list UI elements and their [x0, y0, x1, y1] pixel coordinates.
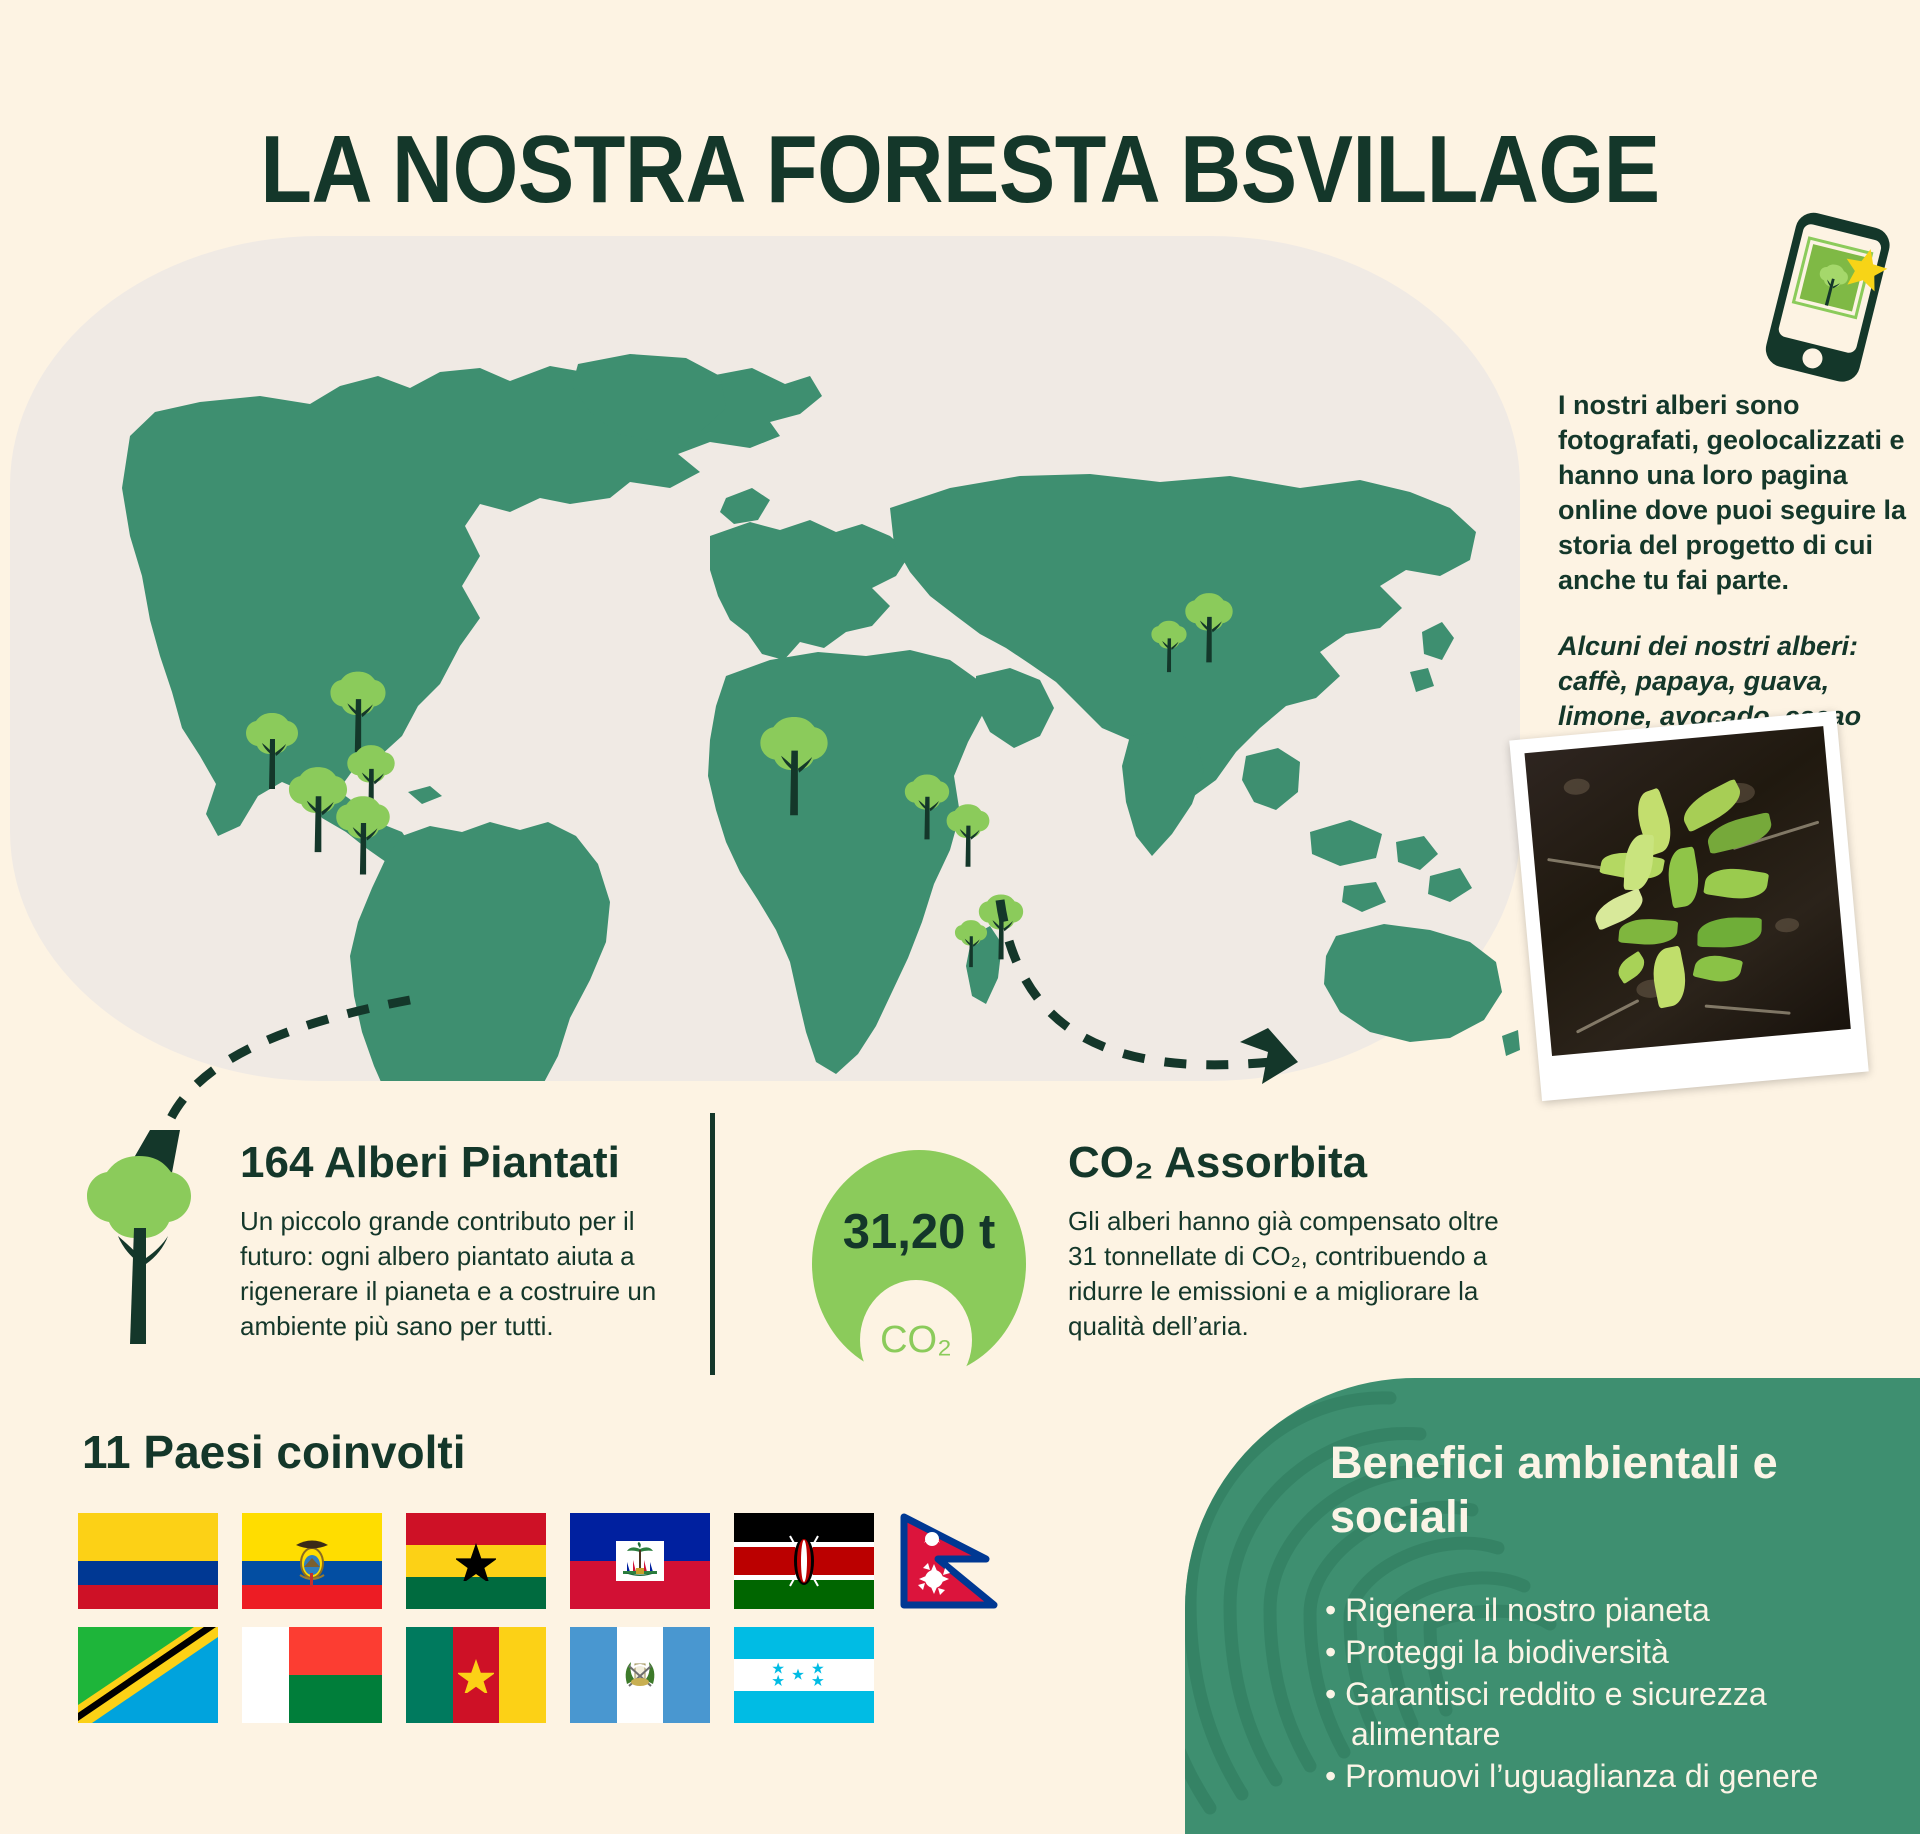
flags-row-1	[78, 1513, 938, 1609]
trees-stat-body: Un piccolo grande contributo per il futu…	[240, 1204, 670, 1343]
benefit-item: Proteggi la biodiversità	[1325, 1632, 1900, 1672]
species-note: Alcuni dei nostri alberi: caffè, papaya,…	[1558, 629, 1908, 734]
trees-stat-heading: 164 Alberi Piantati	[240, 1140, 670, 1186]
flag-nepal	[898, 1513, 1016, 1609]
co2-stat-heading: CO₂ Assorbita	[1068, 1140, 1508, 1186]
map-tree-marker	[950, 914, 992, 970]
map-tree-marker	[1146, 614, 1192, 676]
seedling-polaroid-photo	[1509, 711, 1868, 1101]
world-map-svg	[10, 236, 1520, 1081]
co2-stat-block: CO₂ Assorbita Gli alberi hanno già compe…	[1068, 1140, 1508, 1344]
seedling-in-soil-photo	[1524, 726, 1850, 1056]
map-tree-marker	[750, 704, 838, 822]
flag-haiti	[570, 1513, 710, 1609]
co2-bubble-label: CO₂	[880, 1319, 952, 1362]
benefit-item: Garantisci reddito e sicurezza alimentar…	[1325, 1674, 1900, 1754]
trees-stat-block: 164 Alberi Piantati Un piccolo grande co…	[240, 1140, 670, 1344]
benefits-list: Rigenera il nostro pianetaProteggi la bi…	[1325, 1590, 1900, 1798]
countries-heading: 11 Paesi coinvolti	[82, 1425, 466, 1479]
flag-colombia	[78, 1513, 218, 1609]
smartphone-tree-photo-icon	[1742, 206, 1912, 386]
benefit-item: Promuovi l’uguaglianza di genere	[1325, 1756, 1900, 1796]
co2-badge: 31,20 t CO₂	[812, 1150, 1026, 1378]
flag-ghana	[406, 1513, 546, 1609]
flags-grid	[78, 1513, 938, 1741]
map-tree-marker	[328, 786, 398, 880]
infographic-root: LA NOSTRA FORESTA BSVILLAGE	[0, 0, 1920, 1834]
co2-stat-body: Gli alberi hanno già compensato oltre 31…	[1068, 1204, 1508, 1343]
flag-ecuador	[242, 1513, 382, 1609]
flag-madagascar	[242, 1627, 382, 1723]
description-paragraph: I nostri alberi sono fotografati, geoloc…	[1558, 388, 1908, 599]
flags-row-2	[78, 1627, 938, 1723]
page-title: LA NOSTRA FORESTA BSVILLAGE	[115, 122, 1805, 218]
section-divider	[710, 1113, 715, 1375]
flag-kenya	[734, 1513, 874, 1609]
benefit-item: Rigenera il nostro pianeta	[1325, 1590, 1900, 1630]
flag-tanzania	[78, 1627, 218, 1723]
flag-cameroon	[406, 1627, 546, 1723]
right-description-block: I nostri alberi sono fotografati, geoloc…	[1558, 388, 1908, 764]
co2-bubble: CO₂	[860, 1280, 972, 1400]
co2-value: 31,20 t	[812, 1204, 1026, 1260]
world-map-panel	[10, 236, 1520, 1081]
benefits-title: Benefici ambientali e sociali	[1330, 1436, 1850, 1544]
benefits-panel: Benefici ambientali e sociali Rigenera i…	[1185, 1378, 1920, 1834]
flag-guatemala	[570, 1627, 710, 1723]
tree-icon	[72, 1150, 207, 1350]
flag-honduras	[734, 1627, 874, 1723]
map-tree-marker	[940, 796, 996, 872]
